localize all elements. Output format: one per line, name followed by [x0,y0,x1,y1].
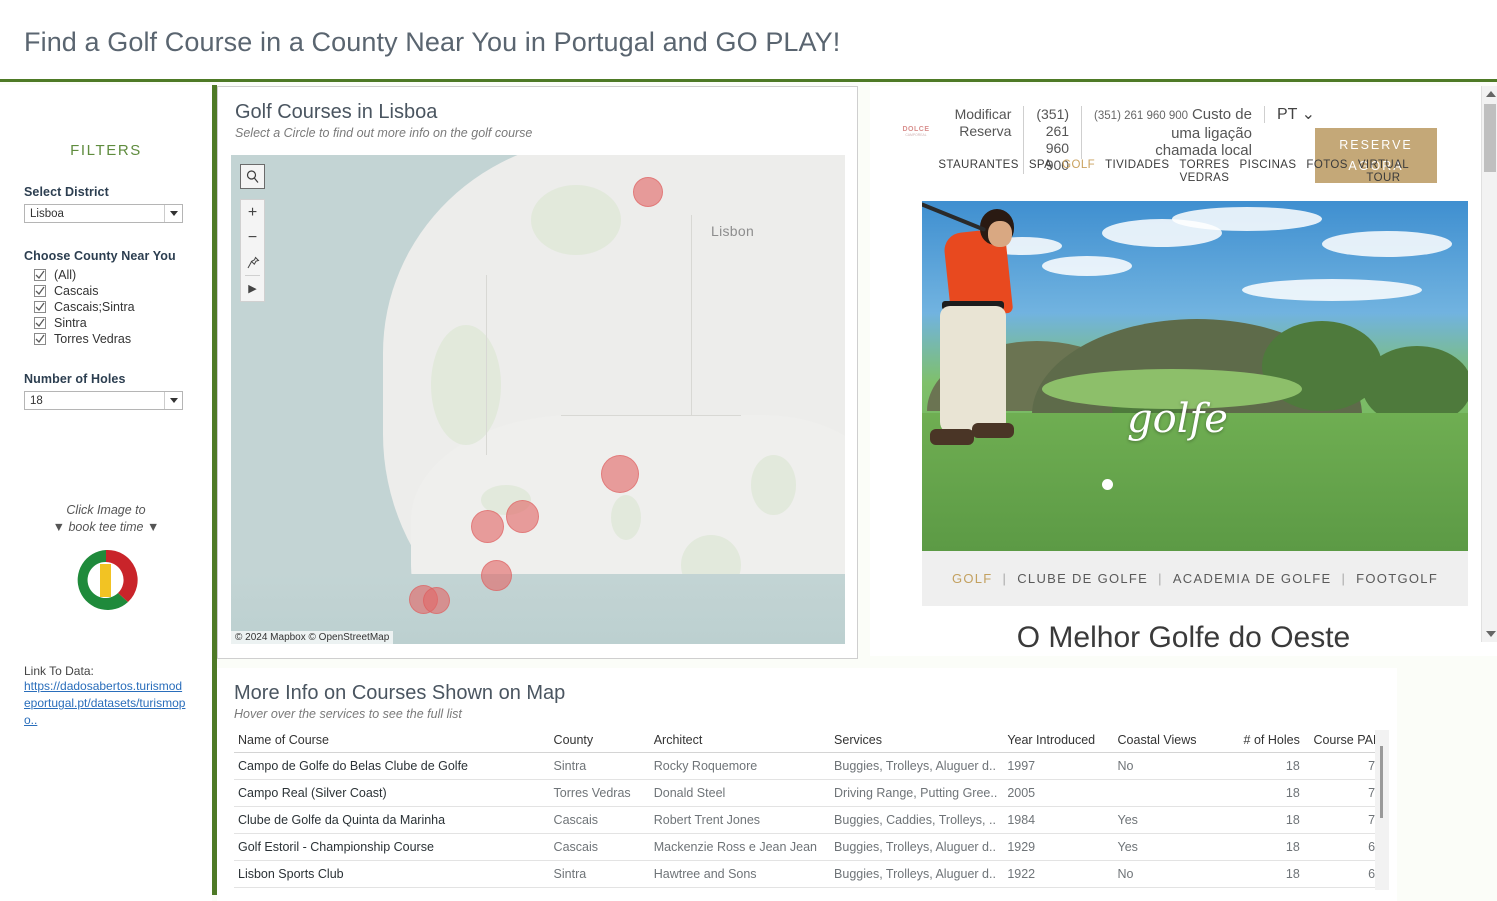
cell-holes: 18 [1212,753,1304,780]
cell-architect: Rocky Roquemore [650,753,830,780]
holes-select[interactable]: 18 [24,391,183,410]
map-green-area [431,325,501,445]
cell-name: Campo de Golfe do Belas Clube de Golfe [234,753,550,780]
cell-county: Sintra [550,753,650,780]
holes-value: 18 [30,395,43,407]
cell-par: 69 [1304,834,1386,861]
subnav-item-golf[interactable]: GOLF [952,571,993,586]
checkmark-icon [34,269,46,281]
cell-coastal: Yes [1114,807,1212,834]
map-boundary-line [486,275,487,455]
reserve-line-1: RESERVE [1339,135,1413,156]
map-card-title: Golf Courses in Lisboa [235,101,857,124]
nav-item-virtual-tour[interactable]: VIRTUALTOUR [1358,159,1409,185]
cell-architect: Donald Steel [650,780,830,807]
cell-architect: Mackenzie Ross e Jean Jean [650,834,830,861]
map-card-subtitle: Select a Circle to find out more info on… [235,126,857,140]
county-label: Choose County Near You [24,249,188,263]
checkmark-icon [34,301,46,313]
cell-holes: 18 [1212,780,1304,807]
district-label: Select District [24,185,188,199]
col-county[interactable]: County [550,730,650,753]
county-checkbox-torres-vedras[interactable]: Torres Vedras [34,332,188,346]
cell-services[interactable]: Buggies, Trolleys, Aluguer d.. [830,834,1003,861]
map-zoom-controls: + − ▶ [240,199,265,302]
dashboard-titlebar: Find a Golf Course in a County Near You … [0,0,1497,82]
book-note-line2: ▼ book tee time ▼ [24,519,188,536]
dashboard-root: Find a Golf Course in a County Near You … [0,0,1497,901]
filters-heading: FILTERS [24,142,188,159]
logo-line-1: DOLCE [903,126,930,133]
nav-item-torres-vedras[interactable]: TORRESVEDRAS [1179,159,1229,185]
cell-holes: 18 [1212,834,1304,861]
search-icon[interactable] [240,164,265,189]
table-row[interactable]: Clube de Golfe da Quinta da Marinha Casc… [234,807,1386,834]
map-marker[interactable] [601,455,639,493]
phone-inline[interactable]: (351) 261 960 900 [1094,110,1188,122]
table-vertical-scrollbar[interactable] [1375,730,1389,890]
cell-holes: 18 [1212,807,1304,834]
data-source-link[interactable]: https://dadosabertos.turismodeportugal.p… [24,678,188,729]
chevron-down-icon[interactable] [164,205,182,222]
dolce-camporeal-logo[interactable]: DOLCE CAMPOREAL [898,124,934,140]
cell-architect: Robert Trent Jones [650,807,830,834]
map-green-area [611,495,641,540]
holes-label: Number of Holes [24,372,188,386]
cell-year: 1997 [1003,753,1113,780]
checkmark-icon [34,317,46,329]
chevron-down-icon: ⌄ [1302,106,1315,123]
map-card: Golf Courses in Lisboa Select a Circle t… [217,86,858,659]
logo-line-2: CAMPOREAL [905,133,926,138]
pin-icon[interactable] [241,250,264,275]
col-year-introduced[interactable]: Year Introduced [1003,730,1113,753]
county-checkbox-cascais-sintra[interactable]: Cascais;Sintra [34,300,188,314]
county-checkbox-cascais[interactable]: Cascais [34,284,188,298]
cell-year: 1922 [1003,861,1113,888]
col-name-of-course[interactable]: Name of Course [234,730,550,753]
table-row[interactable]: Golf Estoril - Championship Course Casca… [234,834,1386,861]
cell-holes: 18 [1212,861,1304,888]
language-value: PT [1277,106,1297,123]
district-select[interactable]: Lisboa [24,204,183,223]
golf-sub-nav: GOLF | CLUBE DE GOLFE | ACADEMIA DE GOLF… [922,551,1468,606]
map-green-area [751,455,796,515]
turismo-logo-icon [66,542,146,618]
courses-table-title: More Info on Courses Shown on Map [234,682,1397,705]
district-value: Lisboa [30,208,64,220]
cell-coastal: No [1114,753,1212,780]
table-row[interactable]: Campo Real (Silver Coast) Torres Vedras … [234,780,1386,807]
expand-button[interactable]: ▶ [241,276,264,301]
zoom-out-button[interactable]: − [241,225,264,250]
courses-table-card: More Info on Courses Shown on Map Hover … [217,668,1397,901]
hero-golf-image: golfe [922,201,1468,551]
county-option-label: (All) [54,268,76,282]
web-topbar: DOLCE CAMPOREAL ModificarReserva (351)26… [870,86,1497,161]
language-selector[interactable]: PT ⌄ [1264,106,1327,123]
map-marker[interactable] [471,510,504,543]
subnav-item-footgolf[interactable]: FOOTGOLF [1356,571,1438,586]
courses-table-subtitle: Hover over the services to see the full … [234,707,1397,721]
map-marker[interactable] [481,560,512,591]
web-headline: O Melhor Golfe do Oeste [870,621,1497,655]
cell-par: 71 [1304,807,1386,834]
embedded-web-panel: DOLCE CAMPOREAL ModificarReserva (351)26… [870,86,1497,656]
cell-year: 1984 [1003,807,1113,834]
cell-name: Golf Estoril - Championship Course [234,834,550,861]
col-coastal-views[interactable]: Coastal Views [1114,730,1212,753]
map-marker[interactable] [506,500,539,533]
county-option-label: Cascais [54,284,98,298]
hero-script-text: golfe [1127,396,1228,442]
cell-county: Sintra [550,861,650,888]
cell-name: Lisbon Sports Club [234,861,550,888]
cell-county: Cascais [550,807,650,834]
map-green-area [531,185,621,255]
chevron-down-icon[interactable] [164,392,182,409]
cell-year: 2005 [1003,780,1113,807]
checkmark-icon [34,285,46,297]
county-option-label: Sintra [54,316,87,330]
cell-county: Cascais [550,834,650,861]
county-checkbox-sintra[interactable]: Sintra [34,316,188,330]
cell-name: Clube de Golfe da Quinta da Marinha [234,807,550,834]
cell-coastal: Yes [1114,834,1212,861]
cell-name: Campo Real (Silver Coast) [234,780,550,807]
cell-services[interactable]: Buggies, Trolleys, Aluguer d.. [830,753,1003,780]
filters-sidebar: FILTERS Select District Lisboa Choose Co… [0,85,212,901]
link-to-data-label: Link To Data: [24,664,94,678]
cell-architect: Hawtree and Sons [650,861,830,888]
nav-item-spa[interactable]: SPA [1029,159,1052,185]
map-canvas[interactable]: Lisbon + − ▶ [231,155,845,644]
subnav-divider: | [1158,571,1163,586]
nav-item-atividades[interactable]: TIVIDADES [1105,159,1169,185]
call-cost-info: (351) 261 960 900 Custo deuma ligaçãocha… [1081,106,1264,159]
nav-item-piscinas[interactable]: PISCINAS [1240,159,1297,185]
col-number-of-holes[interactable]: # of Holes [1212,730,1304,753]
county-option-label: Torres Vedras [54,332,131,346]
courses-table: Name of Course County Architect Services… [234,730,1386,888]
nav-item-fotos[interactable]: FOTOS [1306,159,1347,185]
subnav-item-academia-de-golfe[interactable]: ACADEMIA DE GOLFE [1173,571,1332,586]
subnav-item-clube-de-golfe[interactable]: CLUBE DE GOLFE [1017,571,1148,586]
turismo-portugal-logo[interactable] [24,542,188,618]
cell-services[interactable]: Buggies, Trolleys, Aluguer d.. [830,861,1003,888]
subnav-divider: | [1341,571,1346,586]
page-title: Find a Golf Course in a County Near You … [8,27,840,58]
col-architect[interactable]: Architect [650,730,830,753]
book-note-line1: Click Image to [24,502,188,519]
map-marker[interactable] [423,587,450,614]
cell-par: 72 [1304,753,1386,780]
subnav-divider: | [1003,571,1008,586]
map-boundary-line [691,215,692,415]
cell-par: 72 [1304,780,1386,807]
map-boundary-line [561,415,741,416]
table-row[interactable]: Lisbon Sports Club Sintra Hawtree and So… [234,861,1386,888]
checkmark-icon [34,333,46,345]
map-marker[interactable] [633,177,663,207]
map-city-label-lisbon: Lisbon [711,223,754,239]
nav-item-golf[interactable]: GOLF [1062,159,1095,185]
book-tee-time-note: Click Image to ▼ book tee time ▼ [24,502,188,536]
cell-coastal: No [1114,861,1212,888]
map-attribution: © 2024 Mapbox © OpenStreetMap [231,631,393,644]
map-toolbar: + − ▶ [240,164,265,302]
cell-services[interactable]: Buggies, Caddies, Trolleys, .. [830,807,1003,834]
nav-item-restaurantes[interactable]: STAURANTES [938,159,1018,185]
zoom-in-button[interactable]: + [241,200,264,225]
web-main-nav: STAURANTES SPA GOLF TIVIDADES TORRESVEDR… [870,159,1497,185]
county-checkbox-group: (All) Cascais Cascais;Sintra Sintra Torr… [24,268,188,346]
col-course-par[interactable]: Course PAR [1304,730,1386,753]
county-checkbox-all[interactable]: (All) [34,268,188,282]
cell-year: 1929 [1003,834,1113,861]
cell-services[interactable]: Driving Range, Putting Gree.. [830,780,1003,807]
modify-booking-link[interactable]: ModificarReserva [943,106,1024,140]
cell-coastal [1114,780,1212,807]
golf-ball [1102,479,1113,490]
cell-county: Torres Vedras [550,780,650,807]
county-option-label: Cascais;Sintra [54,300,135,314]
table-row[interactable]: Campo de Golfe do Belas Clube de Golfe S… [234,753,1386,780]
table-header-row: Name of Course County Architect Services… [234,730,1386,753]
link-to-data: Link To Data: https://dadosabertos.turis… [24,664,188,729]
cell-par: 69 [1304,861,1386,888]
col-services[interactable]: Services [830,730,1003,753]
scroll-up-arrow-icon[interactable] [1486,91,1496,97]
scroll-down-arrow-icon[interactable] [1486,631,1496,637]
